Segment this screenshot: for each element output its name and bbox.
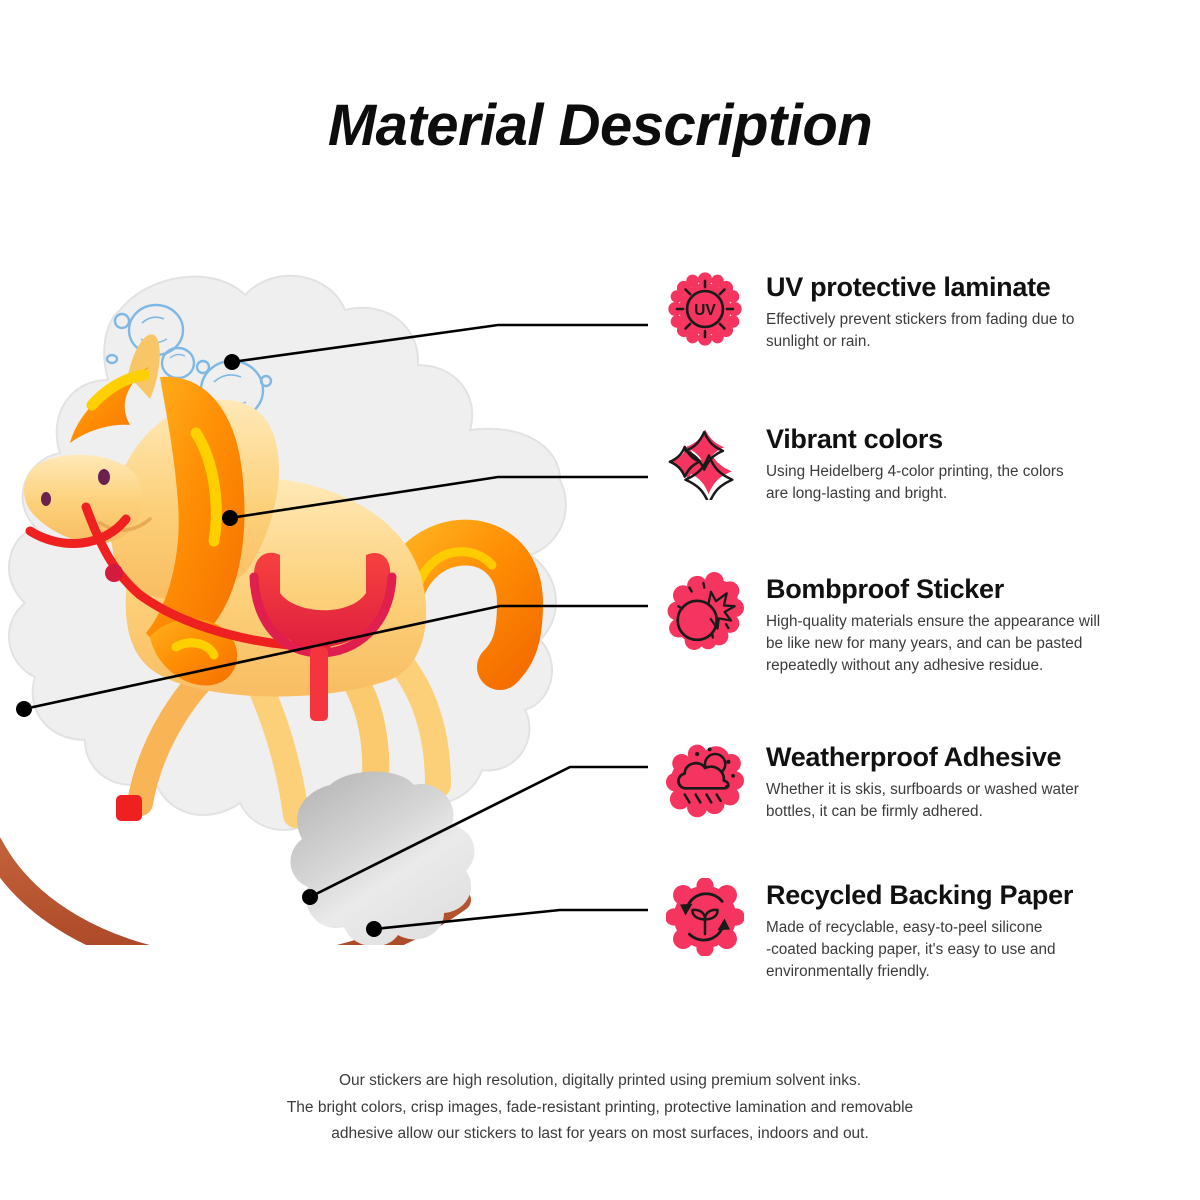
feature-description: Whether it is skis, surfboards or washed… xyxy=(766,779,1186,822)
feature-item-bombproof-sticker: Bombproof Sticker High-quality materials… xyxy=(666,570,1186,676)
feature-item-vibrant-colors: Vibrant colors Using Heidelberg 4-color … xyxy=(666,420,1186,505)
feature-title: UV protective laminate xyxy=(766,272,1186,302)
rocking-horse-illustration xyxy=(0,255,600,945)
feature-title: Bombproof Sticker xyxy=(766,574,1186,604)
footer-note: Our stickers are high resolution, digita… xyxy=(0,1068,1200,1148)
uv-icon-label: UV xyxy=(694,302,716,319)
rain-cloud-icon xyxy=(666,740,744,818)
sparkles-icon xyxy=(666,422,744,500)
feature-description: High-quality materials ensure the appear… xyxy=(766,611,1186,676)
feature-description: Effectively prevent stickers from fading… xyxy=(766,309,1186,352)
uv-sun-icon: UV xyxy=(666,270,744,348)
feature-item-uv-protective-laminate: UV UV protective laminate Effectively pr… xyxy=(666,268,1186,353)
bomb-icon xyxy=(666,572,744,650)
footer-line-1: Our stickers are high resolution, digita… xyxy=(0,1068,1200,1095)
feature-item-weatherproof-adhesive: Weatherproof Adhesive Whether it is skis… xyxy=(666,738,1186,823)
recycle-sprout-icon xyxy=(666,878,744,956)
feature-title: Weatherproof Adhesive xyxy=(766,742,1186,772)
footer-line-3: adhesive allow our stickers to last for … xyxy=(0,1121,1200,1148)
feature-title: Vibrant colors xyxy=(766,424,1186,454)
page-title: Material Description xyxy=(0,96,1200,157)
footer-line-2: The bright colors, crisp images, fade-re… xyxy=(0,1095,1200,1122)
feature-description: Using Heidelberg 4-color printing, the c… xyxy=(766,461,1186,504)
feature-title: Recycled Backing Paper xyxy=(766,880,1186,910)
feature-description: Made of recyclable, easy-to-peel silicon… xyxy=(766,917,1186,982)
feature-item-recycled-backing-paper: Recycled Backing Paper Made of recyclabl… xyxy=(666,876,1186,982)
